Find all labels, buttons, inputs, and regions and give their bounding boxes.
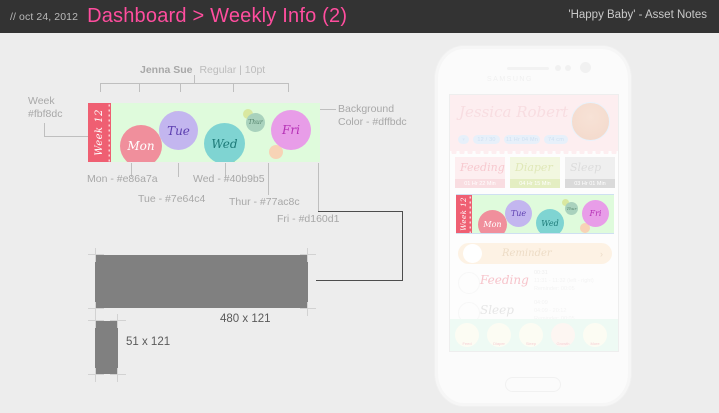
header-date: // oct 24, 2012 [10, 11, 78, 23]
phone-brand-label: SAMSUNG [487, 76, 533, 83]
project-label: 'Happy Baby' - Asset Notes [568, 9, 707, 21]
week-tab[interactable]: Week 12 [456, 195, 472, 233]
spec-dimension-label: 51 x 121 [126, 336, 170, 348]
week-tab[interactable]: Week 12 [88, 103, 111, 162]
spec-box-week-tab [95, 321, 118, 374]
log-title: Feeding [480, 273, 529, 287]
card-value: 01 Hr 22 Min [455, 179, 505, 188]
card-sleep[interactable]: Sleep 03 Hr 01 Min [565, 157, 615, 188]
day-bubble-tue[interactable]: Tue [505, 200, 532, 227]
week-tab-annotation: Week #fbf8dc [28, 95, 62, 121]
front-camera-icon [580, 62, 591, 73]
day-label: Thur [248, 119, 263, 126]
log-duration: 04:09 [534, 300, 548, 306]
sensor-dot [565, 65, 571, 71]
speaker-grille [507, 67, 549, 70]
log-row-feeding[interactable]: Feeding 00:31 11:31 - 11:32 (left - righ… [458, 269, 612, 299]
stat-pill-weight[interactable]: 12 / 30 [473, 135, 500, 144]
card-value: 03 Hr 01 Min [565, 179, 615, 188]
day-bubble-mon[interactable]: Mon [120, 125, 162, 162]
reminder-label: Reminder [502, 248, 552, 259]
color-annotation-tue: Tue - #7e64c4 [138, 193, 205, 206]
day-bubble-fri[interactable]: Fri [271, 110, 311, 150]
day-bubble-tue[interactable]: Tue [159, 111, 198, 150]
nav-item-feed[interactable]: Feed [455, 323, 479, 347]
nav-item-more[interactable]: More [583, 323, 607, 347]
stat-pill-height[interactable]: 74 cm [544, 135, 568, 144]
spec-box-week-strip [95, 255, 308, 308]
reminder-bar[interactable]: Reminder › [458, 243, 612, 264]
week-strip-widget[interactable]: Week 12 Mon Tue Wed Thur Fri [88, 103, 320, 162]
day-label: Tue [167, 124, 190, 138]
stat-pill-age[interactable]: 11 Hr 04 Mn [504, 135, 540, 144]
font-annotation: Jenna Sue Regular | 10pt [140, 64, 265, 77]
card-title: Feeding [460, 161, 505, 174]
chevron-right-icon: › [600, 249, 603, 259]
card-title: Diaper [515, 161, 553, 174]
stat-pill-gender[interactable]: ♀ [458, 135, 469, 144]
day-bubble-thur[interactable]: Thur [246, 113, 265, 132]
profile-header: Jessica Robert ♀ 12 / 30 11 Hr 04 Mn 74 … [450, 95, 618, 151]
bottom-nav: Feed Diaper Sleep Growth More [450, 319, 618, 351]
log-range: 11:31 - 11:32 (left - right) [534, 278, 594, 284]
spec-canvas: Jenna Sue Regular | 10pt Week #fbf8dc Ba… [0, 33, 719, 413]
home-button[interactable] [505, 377, 561, 392]
app-header: // oct 24, 2012 Dashboard > Weekly Info … [0, 0, 719, 33]
day-label: Fri [282, 123, 300, 137]
day-label: Mon [127, 139, 154, 153]
week-tab-label: Week 12 [94, 109, 105, 156]
spec-dimension-label: 480 x 121 [220, 313, 271, 325]
log-range: 04:09 - 20:12 [534, 308, 566, 314]
nav-item-sleep[interactable]: Sleep [519, 323, 543, 347]
color-annotation-thur: Thur - #77ac8c [229, 196, 300, 209]
day-bubble-thur[interactable]: Thur [565, 202, 578, 215]
log-title: Sleep [480, 303, 514, 317]
phone-screen: Jessica Robert ♀ 12 / 30 11 Hr 04 Mn 74 … [449, 94, 619, 352]
day-bubble-wed[interactable]: Wed [204, 123, 245, 162]
log-reminder: Reminder: 00:05 [534, 286, 575, 292]
card-title: Sleep [570, 161, 601, 174]
card-feeding[interactable]: Feeding 01 Hr 22 Min [455, 157, 505, 188]
day-label: Wed [211, 137, 237, 151]
card-value: 04 Hr 15 Min [510, 179, 560, 188]
log-icon [458, 272, 480, 294]
week-tab-label: Week 12 [460, 197, 468, 231]
log-duration: 00:31 [534, 270, 548, 276]
sensor-dot [555, 65, 561, 71]
baby-avatar[interactable] [571, 102, 610, 141]
color-annotation-wed: Wed - #40b9b5 [193, 173, 265, 186]
card-diaper[interactable]: Diaper 04 Hr 15 Min [510, 157, 560, 188]
reminder-icon [463, 244, 482, 263]
day-bubble-wed[interactable]: Wed [536, 209, 564, 234]
color-annotation-mon: Mon - #e86a7a [87, 173, 158, 186]
nav-item-diaper[interactable]: Diaper [487, 323, 511, 347]
background-color-annotation: Background Color - #dffbdc [338, 103, 407, 129]
page-title: Dashboard > Weekly Info (2) [87, 5, 347, 28]
nav-item-growth[interactable]: Growth [551, 323, 575, 347]
week-strip-widget-phone[interactable]: Week 12 Mon Tue Wed Thur Fri [456, 194, 614, 234]
day-bubble-fri[interactable]: Fri [582, 200, 609, 227]
baby-name: Jessica Robert [459, 103, 568, 121]
phone-mockup: SAMSUNG Jessica Robert ♀ 12 / 30 11 Hr 0… [434, 45, 632, 407]
font-name: Jenna Sue [140, 64, 193, 76]
day-bubble-mon[interactable]: Mon [478, 210, 507, 234]
color-annotation-fri: Fri - #d160d1 [277, 213, 339, 226]
font-spec: Regular | 10pt [199, 64, 265, 76]
